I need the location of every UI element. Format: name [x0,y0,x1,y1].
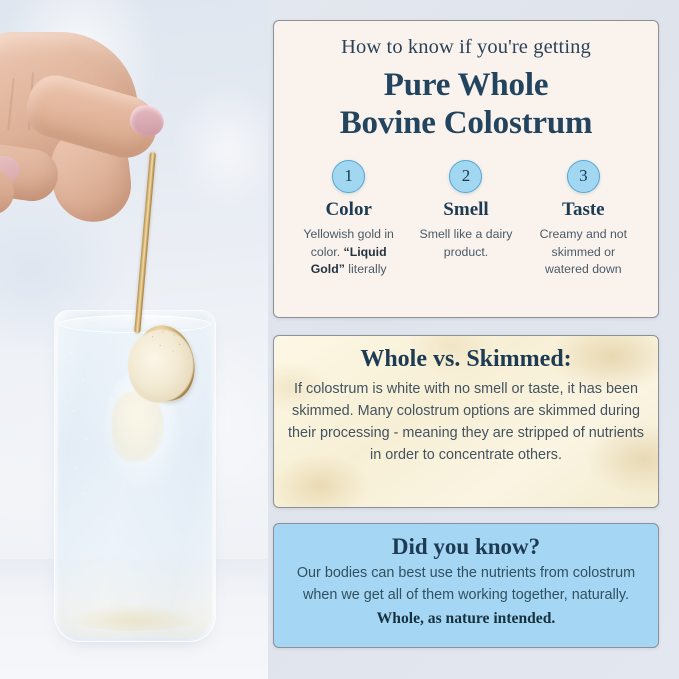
step-title-smell: Smell [411,199,520,221]
steps-row: 1 Color Yellowish gold in color. “Liquid… [290,160,642,278]
step-badge-1: 1 [332,160,365,193]
step-desc-taste: Creamy and not skimmed or watered down [529,226,638,278]
step-badge-3: 3 [567,160,600,193]
did-you-know-body-bold: Whole, as nature intended. [377,610,556,627]
step-desc-smell: Smell like a dairy product. [411,226,520,261]
hero-title: Pure Whole Bovine Colostrum [290,66,642,143]
step-smell: 2 Smell Smell like a dairy product. [407,160,524,278]
hero-panel: How to know if you're getting Pure Whole… [273,20,659,318]
infographic-root: How to know if you're getting Pure Whole… [0,0,679,679]
whole-vs-skimmed-heading: Whole vs. Skimmed: [288,346,644,373]
hand [0,28,178,224]
step-title-color: Color [294,199,403,221]
glass-bottom-sediment [69,605,201,631]
step-desc-color: Yellowish gold in color. “Liquid Gold” l… [294,226,403,278]
product-photo [0,0,268,679]
did-you-know-body: Our bodies can best use the nutrients fr… [286,563,646,631]
info-panels: How to know if you're getting Pure Whole… [270,0,679,679]
did-you-know-body-pre: Our bodies can best use the nutrients fr… [297,565,635,603]
glass-bubbles [65,335,95,515]
whole-vs-skimmed-panel: Whole vs. Skimmed: If colostrum is white… [273,335,659,508]
hero-title-line1: Pure Whole [290,66,642,104]
knuckle-crease [7,78,14,130]
hero-title-line2: Bovine Colostrum [290,104,642,142]
whole-vs-skimmed-body: If colostrum is white with no smell or t… [288,379,644,467]
step-taste: 3 Taste Creamy and not skimmed or watere… [525,160,642,278]
did-you-know-heading: Did you know? [286,534,646,560]
step-title-taste: Taste [529,199,638,221]
step-desc-color-post: literally [345,262,387,276]
did-you-know-panel: Did you know? Our bodies can best use th… [273,523,659,648]
step-color: 1 Color Yellowish gold in color. “Liquid… [290,160,407,278]
step-badge-2: 2 [449,160,482,193]
hero-kicker: How to know if you're getting [290,35,642,60]
